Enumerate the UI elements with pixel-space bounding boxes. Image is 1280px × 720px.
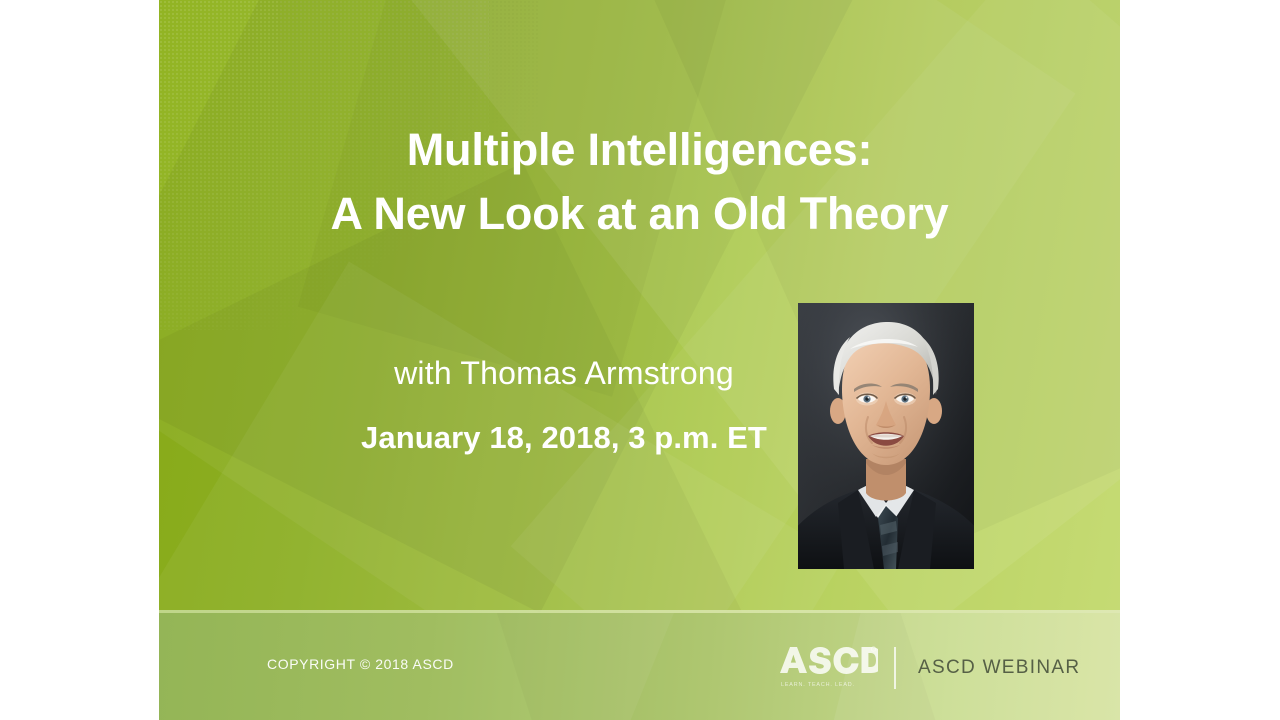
slide-footer: COPYRIGHT © 2018 ASCD [159, 613, 1120, 720]
brand-divider [894, 647, 896, 689]
slide-title: Multiple Intelligences: A New Look at an… [159, 118, 1120, 246]
copyright-text: COPYRIGHT © 2018 ASCD [267, 656, 454, 672]
title-line-1: Multiple Intelligences: [159, 118, 1120, 182]
title-line-2: A New Look at an Old Theory [159, 182, 1120, 246]
presenter-portrait [798, 303, 974, 569]
slide-canvas: Multiple Intelligences: A New Look at an… [159, 0, 1120, 720]
letterbox-right [1120, 0, 1280, 720]
brand-group: LEARN. TEACH. LEAD. ASCD WEBINAR [778, 643, 1080, 693]
webinar-label: ASCD WEBINAR [918, 657, 1080, 679]
ascd-logo-tagline: LEARN. TEACH. LEAD. [781, 682, 855, 688]
background-facet-c [337, 0, 1120, 641]
letterbox-left [0, 0, 159, 720]
screen: Multiple Intelligences: A New Look at an… [0, 0, 1280, 720]
ascd-logo-icon: LEARN. TEACH. LEAD. [778, 643, 878, 693]
